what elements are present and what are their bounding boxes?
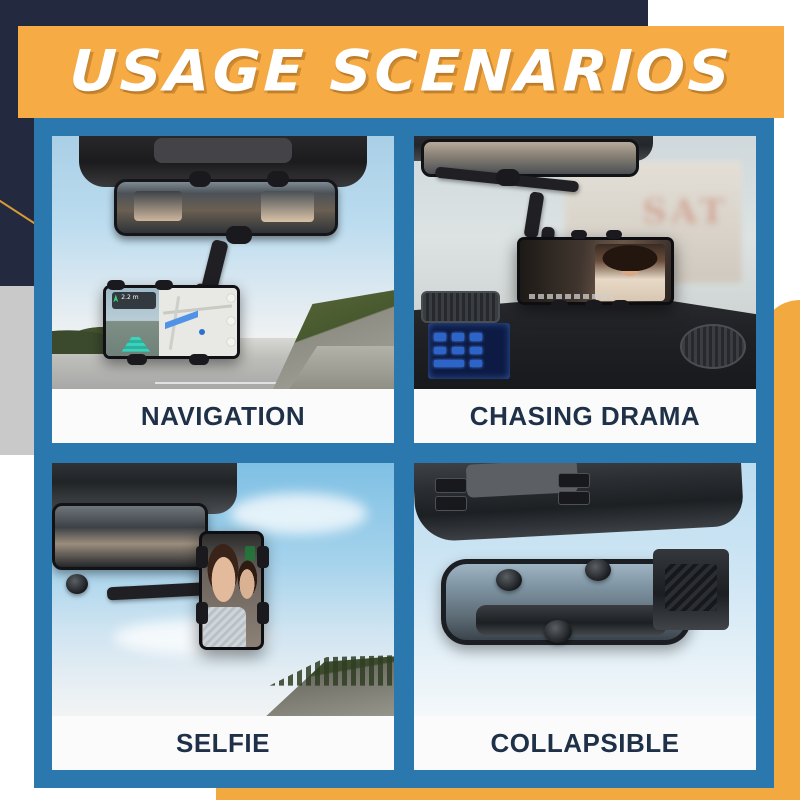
head-unit-key — [434, 360, 464, 367]
nav-map-route — [165, 295, 198, 348]
scenario-card-selfie[interactable]: SELFIE — [52, 463, 394, 770]
scenario-label-selfie: SELFIE — [176, 728, 270, 759]
scenario-caption-navigation: NAVIGATION — [52, 389, 394, 443]
scenario-caption-selfie: SELFIE — [52, 716, 394, 770]
scenario-card-navigation[interactable]: 2.2 m — [52, 136, 394, 443]
nav-map-button-mid[interactable] — [227, 317, 235, 325]
head-unit-key — [452, 347, 463, 355]
phone-clamp-bottom-mid — [585, 300, 602, 310]
mount-pivot-knob-bottom — [544, 620, 572, 643]
scenario-label-collapsible: COLLAPSIBLE — [491, 728, 680, 759]
phone-clamp-right-lower — [257, 602, 269, 624]
scenario-card-chasing-drama[interactable]: SAT — [414, 136, 756, 443]
rearview-mirror — [52, 503, 208, 570]
head-unit-key — [470, 360, 481, 367]
nav-distance-value: 2.2 m — [121, 294, 138, 301]
page-title: USAGE SCENARIOS — [18, 44, 784, 101]
head-unit-key — [452, 333, 463, 341]
phone-clamp-top-right — [606, 230, 622, 239]
head-unit-key — [470, 347, 481, 355]
mount-knob-right — [267, 171, 289, 187]
blurred-signage: SAT — [642, 192, 728, 232]
selfie-person-a-body — [203, 607, 245, 648]
background-gray-left — [0, 286, 34, 462]
cloud — [230, 493, 367, 533]
nav-map-button-bottom[interactable] — [227, 338, 235, 346]
selfie-person-b-face — [237, 564, 257, 605]
scenario-photo-navigation: 2.2 m — [52, 136, 394, 389]
scenario-card-collapsible[interactable]: COLLAPSIBLE — [414, 463, 756, 770]
phone-clamp-top-right — [155, 280, 173, 290]
mount-pivot-knob — [496, 169, 520, 186]
head-unit-display — [428, 323, 510, 379]
phone-screen-navigation: 2.2 m — [106, 288, 237, 355]
video-subtitle — [529, 294, 614, 298]
phone-clamp-left-upper — [196, 546, 208, 568]
nav-map-pin — [199, 329, 205, 335]
mounted-phone-navigation: 2.2 m — [103, 285, 240, 358]
phone-clamp-right-upper — [257, 546, 269, 568]
head-unit-key — [434, 333, 445, 341]
head-unit-key — [470, 333, 481, 341]
page-title-text: USAGE SCENARIOS — [68, 44, 733, 101]
phone-screen-selfie — [202, 534, 261, 647]
head-unit-key — [434, 347, 445, 355]
mount-knob-left — [189, 171, 211, 187]
scenario-photo-chasing-drama: SAT — [414, 136, 756, 389]
phone-clamp-bottom-right — [612, 300, 629, 310]
phone-clamp-bottom-left — [127, 354, 147, 365]
air-vent-left — [421, 291, 500, 323]
roof-switch-left-2[interactable] — [435, 496, 468, 511]
scenarios-grid: 2.2 m — [34, 118, 774, 788]
phone-clamp-left-lower — [196, 602, 208, 624]
roof-switch-right-2[interactable] — [558, 491, 591, 506]
phone-clamp-top-left — [107, 280, 125, 290]
phone-clamp-folded — [653, 549, 728, 630]
video-foreground-figure — [520, 240, 599, 302]
mount-pivot-knob-top — [585, 559, 611, 581]
scenarios-panel: 2.2 m — [34, 118, 774, 788]
mounted-phone-drama — [517, 237, 674, 305]
scenario-photo-selfie — [52, 463, 394, 716]
roof-switch-right[interactable] — [558, 473, 591, 488]
mount-pivot-knob — [66, 574, 88, 594]
title-banner: USAGE SCENARIOS — [18, 26, 784, 118]
infographic-root: USAGE SCENARIOS — [0, 0, 800, 800]
phone-clamp-top-left — [571, 230, 587, 239]
phone-clamp-bottom-left — [551, 300, 568, 310]
nav-turn-arrow-icon — [113, 294, 118, 302]
nav-distance-card: 2.2 m — [112, 292, 156, 310]
scenario-caption-collapsible: COLLAPSIBLE — [414, 716, 756, 770]
mount-pivot-knob — [226, 226, 252, 244]
nav-map-button-top[interactable] — [227, 294, 235, 302]
nav-map-area — [159, 288, 237, 355]
scenario-caption-chasing-drama: CHASING DRAMA — [414, 389, 756, 443]
scenario-label-chasing-drama: CHASING DRAMA — [470, 401, 700, 432]
air-vent-right — [680, 324, 746, 368]
mounted-phone-selfie — [199, 531, 264, 650]
scenario-label-navigation: NAVIGATION — [141, 401, 305, 432]
rearview-mirror — [114, 179, 339, 236]
roof-switch-left[interactable] — [435, 478, 468, 493]
scenario-photo-collapsible — [414, 463, 756, 716]
phone-screen-video — [520, 240, 671, 302]
background-white-bottom-left — [0, 455, 34, 800]
video-actress-hair — [598, 243, 662, 272]
phone-clamp-bottom-right — [189, 354, 209, 365]
